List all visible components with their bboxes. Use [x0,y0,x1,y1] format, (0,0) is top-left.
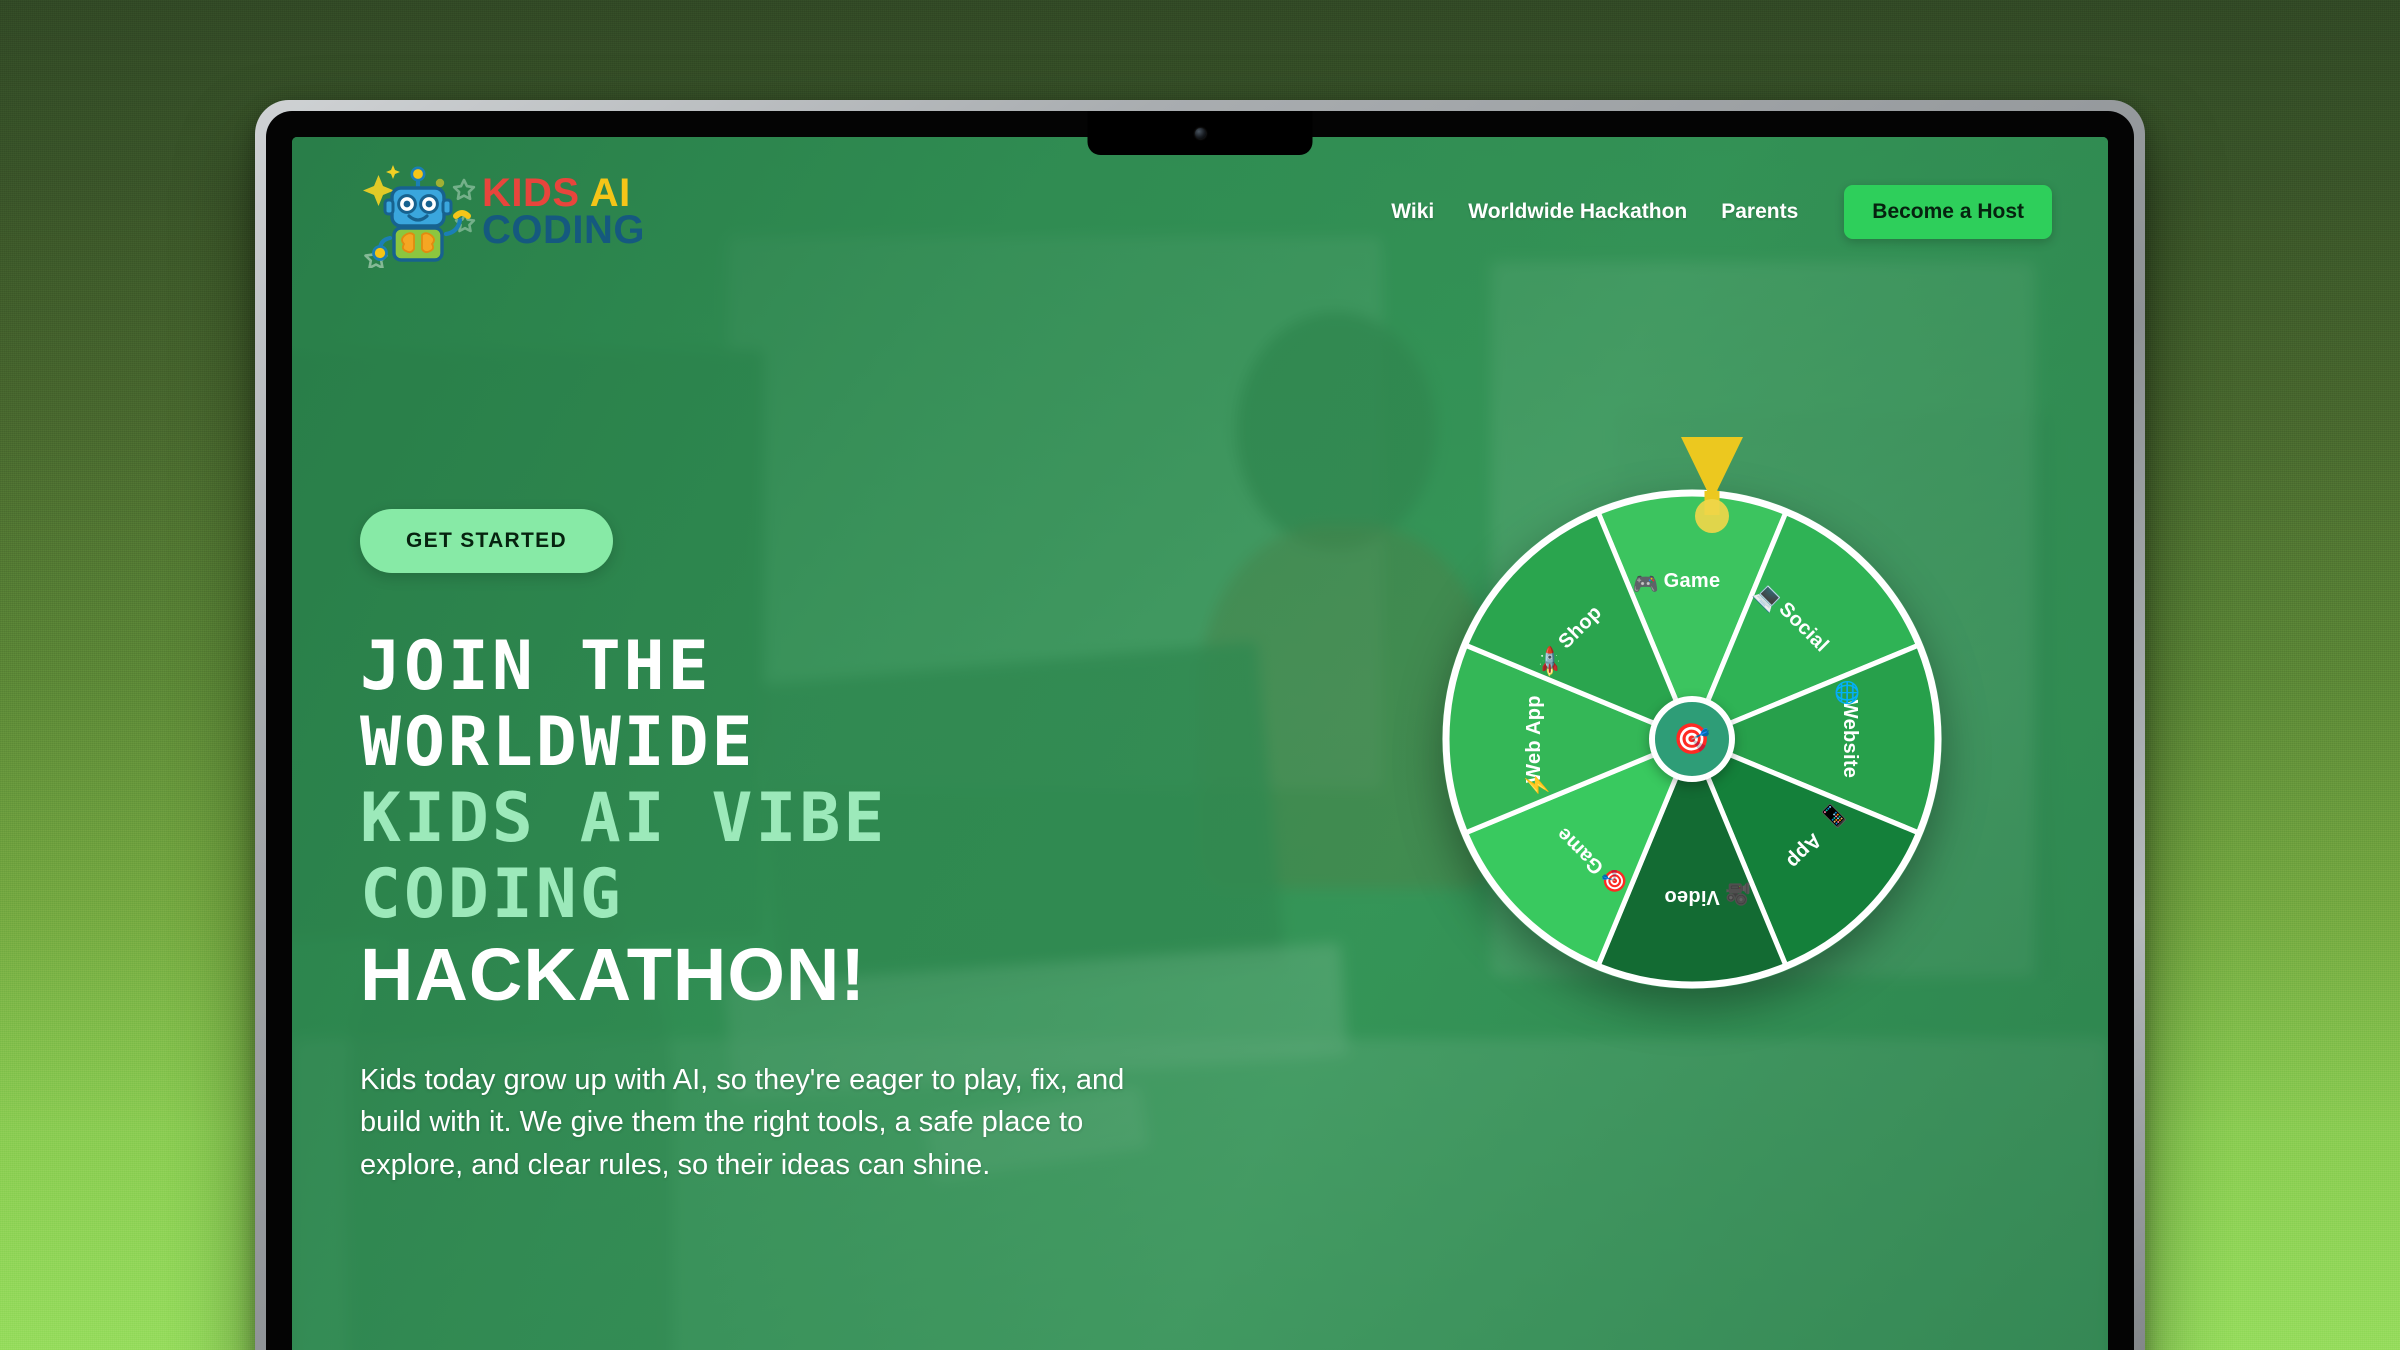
dart-target-icon[interactable]: 🎯 [1649,696,1735,782]
globe-icon: 🌐 [1835,680,1860,706]
laptop-bezel: KIDS AI CODING Wiki Worldwide Hackathon … [266,111,2134,1350]
hero-headline: JOIN THE WORLDWIDE KIDS AI VIBE CODING H… [360,629,1240,1017]
logo-coding-text: CODING [482,212,645,249]
robot-mascot-icon [360,156,476,268]
spin-wheel[interactable]: Game🎮Social💻Website🌐App📱Video🎥Game🎯Web A… [1442,489,1942,989]
wheel-segment-label: Web App [1523,695,1545,783]
get-started-button[interactable]: GET STARTED [360,509,613,573]
brand-logo[interactable]: KIDS AI CODING [360,156,645,268]
movie-camera-icon: 🎥 [1725,882,1751,907]
wheel-segment-label: Website [1839,700,1861,778]
headline-line-5: HACKATHON! [360,934,1240,1017]
brand-wordmark: KIDS AI CODING [482,175,645,249]
website-screen: KIDS AI CODING Wiki Worldwide Hackathon … [292,137,2108,1350]
become-a-host-button[interactable]: Become a Host [1844,185,2052,239]
hero-section: GET STARTED JOIN THE WORLDWIDE KIDS AI V… [360,509,1240,1187]
spin-wheel-widget[interactable]: Game🎮Social💻Website🌐App📱Video🎥Game🎯Web A… [1442,437,1982,977]
nav-link-worldwide-hackathon[interactable]: Worldwide Hackathon [1468,200,1687,224]
nav-link-parents[interactable]: Parents [1721,200,1798,224]
wheel-segment-label: Video [1664,886,1720,908]
webcam-icon [1195,128,1206,139]
headline-line-3: KIDS AI VIBE [360,781,1240,857]
wheel-segment-label: Game [1664,570,1721,592]
headline-line-4: CODING [360,857,1240,933]
page-backdrop: KIDS AI CODING Wiki Worldwide Hackathon … [0,0,2400,1350]
laptop-mockup: KIDS AI CODING Wiki Worldwide Hackathon … [255,100,2145,1350]
lightning-bolt-icon: ⚡ [1524,772,1550,798]
headline-line-1: JOIN THE [360,629,1240,705]
hero-paragraph: Kids today grow up with AI, so they're e… [360,1059,1160,1188]
nav-link-wiki[interactable]: Wiki [1391,200,1434,224]
triangle-pointer-icon [1681,437,1743,533]
site-header: KIDS AI CODING Wiki Worldwide Hackathon … [292,137,2108,287]
main-navigation: Wiki Worldwide Hackathon Parents Become … [1391,185,2052,239]
headline-line-2: WORLDWIDE [360,705,1240,781]
laptop-notch [1088,111,1313,155]
game-controller-icon: 🎮 [1633,573,1659,596]
